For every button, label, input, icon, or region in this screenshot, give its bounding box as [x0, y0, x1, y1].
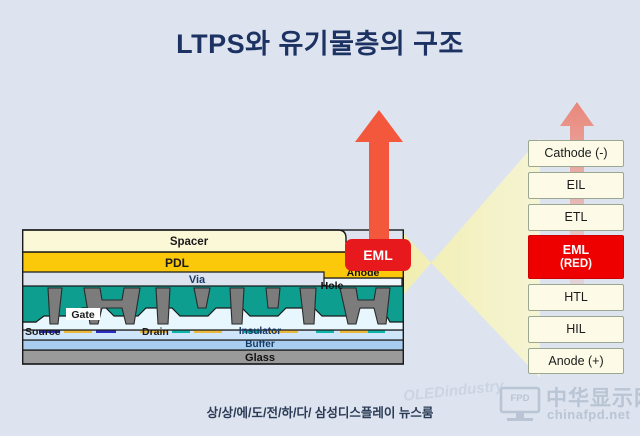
- label-hole: Hole: [321, 280, 344, 292]
- emission-arrow-large: [353, 108, 405, 248]
- label-drain: Drain: [142, 326, 169, 338]
- eml-callout-box: EML: [345, 239, 411, 271]
- slide-canvas: LTPS와 유기물층의 구조: [0, 0, 640, 436]
- eml-callout-label: EML: [363, 247, 393, 263]
- stack-layer-label: HTL: [564, 290, 588, 304]
- label-buffer: Buffer: [245, 339, 275, 350]
- stack-layer-htl[interactable]: HTL: [528, 284, 624, 311]
- label-pdl: PDL: [165, 256, 189, 270]
- stack-layer-label: EIL: [567, 178, 586, 192]
- stack-layer-label: Cathode (-): [544, 146, 607, 160]
- svg-text:Gate: Gate: [71, 309, 95, 321]
- stack-layer-label: Anode (+): [548, 354, 603, 368]
- label-via: Via: [189, 274, 206, 286]
- stack-layer-eml[interactable]: EML (RED): [528, 235, 624, 279]
- stack-layer-eil[interactable]: EIL: [528, 172, 624, 199]
- stack-layer-cathode[interactable]: Cathode (-): [528, 140, 624, 167]
- stack-layer-label: EML: [563, 243, 589, 257]
- stack-layer-anode[interactable]: Anode (+): [528, 348, 624, 374]
- oled-stack: Cathode (-) EIL ETL EML (RED) HTL HIL An…: [528, 140, 624, 374]
- stack-layer-label: HIL: [566, 322, 585, 336]
- light-beam-funnel: [404, 138, 540, 378]
- label-insulator: Insulator: [239, 326, 281, 337]
- label-gate: Gate: [66, 308, 100, 321]
- stack-layer-sublabel: (RED): [560, 258, 592, 271]
- label-spacer: Spacer: [170, 236, 209, 248]
- slide-caption: 상/상/에/도/전/하/다/ 삼성디스플레이 뉴스룸: [0, 402, 640, 421]
- label-glass: Glass: [245, 352, 275, 364]
- svg-text:Source: Source: [25, 326, 61, 338]
- page-title: LTPS와 유기물층의 구조: [0, 22, 640, 61]
- label-source: Source: [25, 326, 61, 338]
- stack-layer-etl[interactable]: ETL: [528, 204, 624, 231]
- stack-layer-hil[interactable]: HIL: [528, 316, 624, 343]
- svg-text:Drain: Drain: [142, 326, 169, 338]
- stack-layer-label: ETL: [565, 210, 588, 224]
